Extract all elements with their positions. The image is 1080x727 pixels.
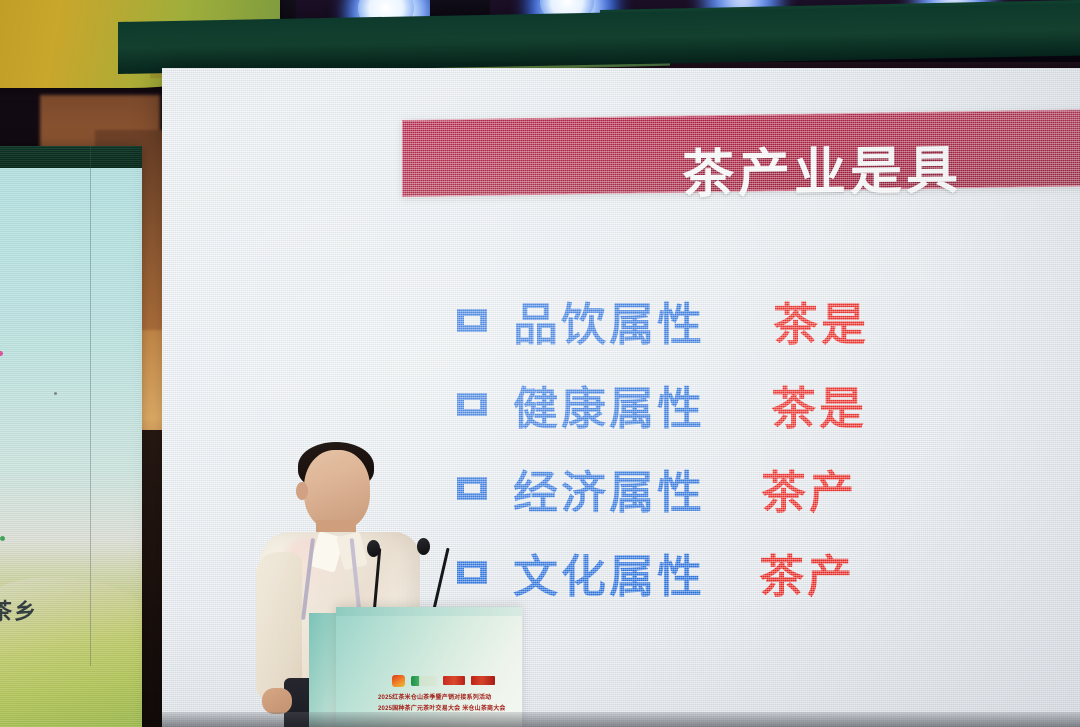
square-checkbox-icon: [457, 309, 487, 332]
bullet-highlight: 茶是: [773, 288, 869, 353]
list-item: 健康属性 茶是: [457, 362, 1080, 446]
microphone-capsule-1: [367, 540, 380, 557]
secondary-screen-label: 茶乡: [0, 594, 38, 626]
map-marker-pink: [0, 351, 3, 356]
bullet-label: 经济属性: [513, 456, 705, 521]
speaker-ear: [296, 482, 308, 500]
podium-event-line-1: 2025红茶米仓山茶季暨产销对接系列活动: [378, 692, 491, 701]
bullet-label: 文化属性: [513, 540, 705, 605]
microphone-capsule-2: [417, 538, 430, 555]
green-circle-logo-icon: [411, 676, 437, 686]
podium-event-line-2: 2025国种茶广元茶叶交易大会 米仓山茶商大会: [378, 703, 506, 712]
flame-logo-icon: [392, 675, 405, 687]
list-item: 文化属性 茶产: [457, 530, 1080, 614]
slide-title-text: 茶产业是具: [682, 128, 962, 207]
red-text-logo-2-icon: [471, 676, 495, 685]
map-gridline: [90, 146, 91, 666]
bullet-label: 健康属性: [513, 372, 705, 437]
bullet-label: 品饮属性: [513, 288, 705, 353]
speaker-hand: [262, 688, 292, 714]
slide-bullet-list: 品饮属性 茶是 健康属性 茶是 经济属性 茶产 文化属性 茶产: [457, 278, 1080, 614]
speaker-head: [304, 450, 370, 530]
list-item: 经济属性 茶产: [457, 446, 1080, 530]
bullet-highlight: 茶产: [759, 540, 855, 605]
square-checkbox-icon: [457, 393, 487, 416]
map-marker-gray: [54, 392, 57, 395]
stage-floor-shadow: [162, 712, 1080, 727]
bullet-highlight: 茶产: [761, 456, 857, 521]
podium-side-panel: [309, 613, 337, 727]
podium-top-edge: [336, 607, 522, 616]
secondary-screen-topbar: [0, 146, 142, 168]
podium-logo-strip: [392, 674, 500, 687]
map-marker-green: [0, 536, 5, 541]
bullet-highlight: 茶是: [771, 372, 867, 437]
list-item: 品饮属性 茶是: [457, 278, 1080, 362]
screenshot-root: 茶乡 茶产业是具 品饮属性 茶是 健康属性 茶是 经济属性 茶产: [0, 0, 1080, 727]
red-text-logo-1-icon: [443, 676, 465, 685]
secondary-screen: 茶乡: [0, 146, 142, 727]
